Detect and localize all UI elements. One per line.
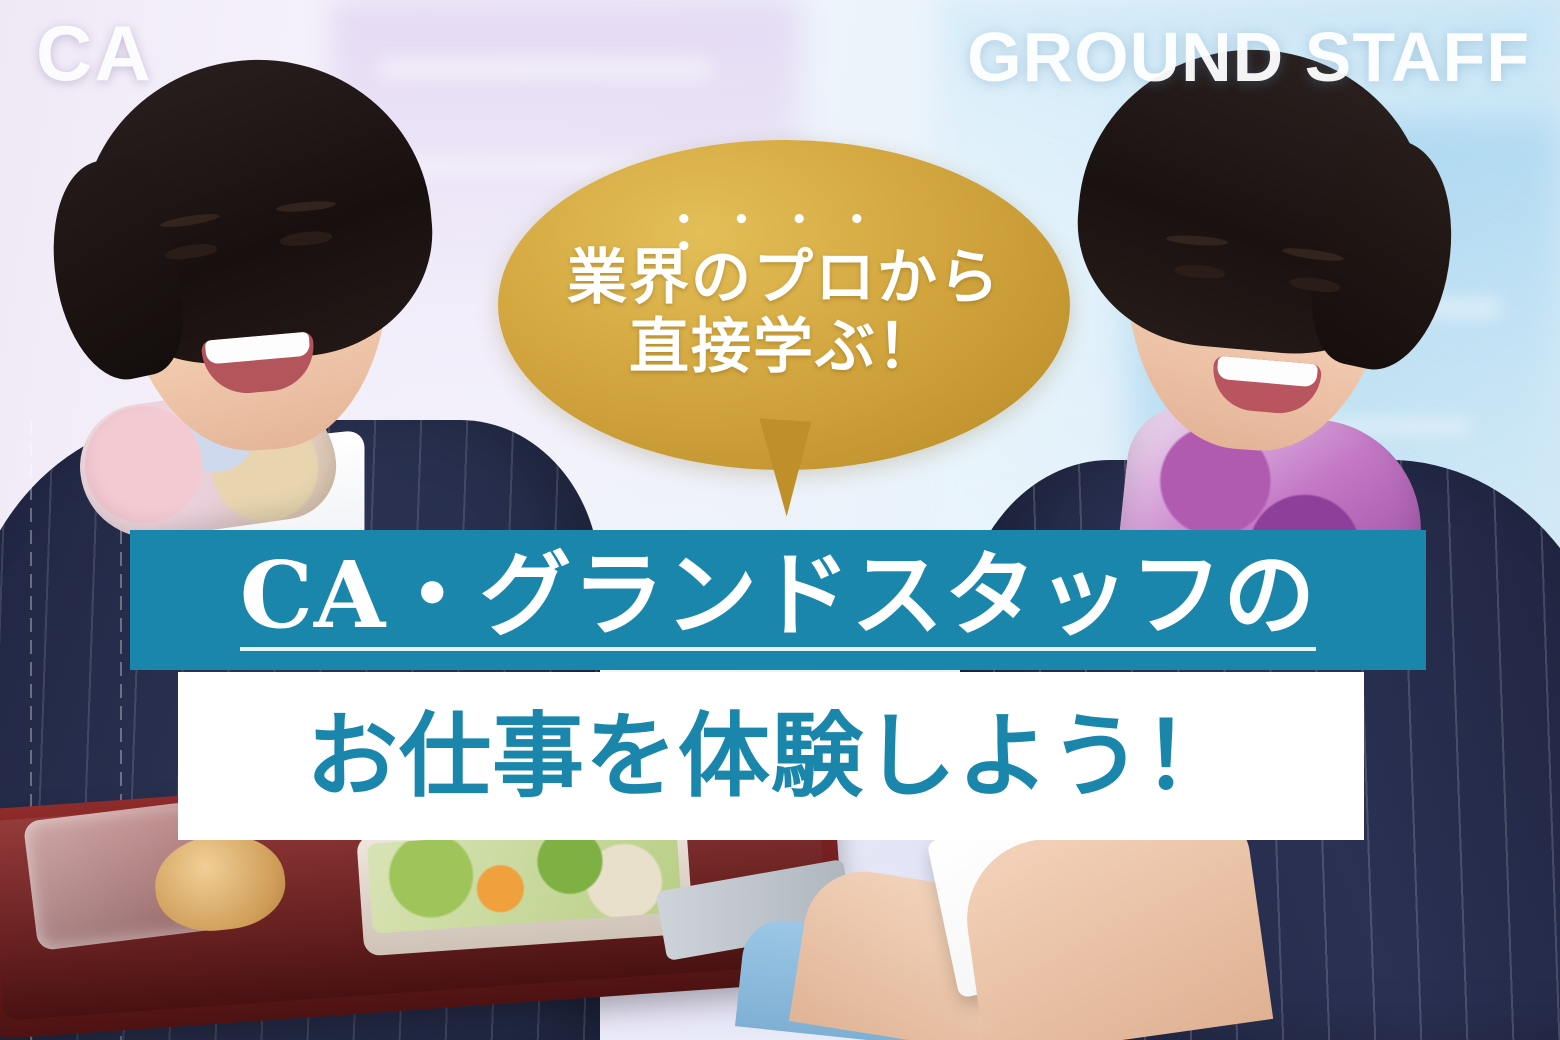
headline-band-primary: CA・グランドスタッフの [130,530,1426,670]
label-ca: CA [36,14,153,92]
speech-bubble-line1: 業界のプロから [567,231,1001,310]
label-ground-staff: GROUND STAFF [967,22,1530,92]
headline-line1: CA・グランドスタッフの [240,549,1317,651]
headline-line2: お仕事を体験しよう！ [306,710,1236,802]
speech-bubble-line2: 直接学ぶ！ [629,316,939,379]
speech-bubble-text: 業界のプロから 直接学ぶ！ [498,140,1070,470]
promotional-banner: CA GROUND STAFF 業界のプロから 直接学ぶ！ CA・グランドスタッ… [0,0,1560,1040]
headline-band-secondary: お仕事を体験しよう！ [178,672,1364,840]
